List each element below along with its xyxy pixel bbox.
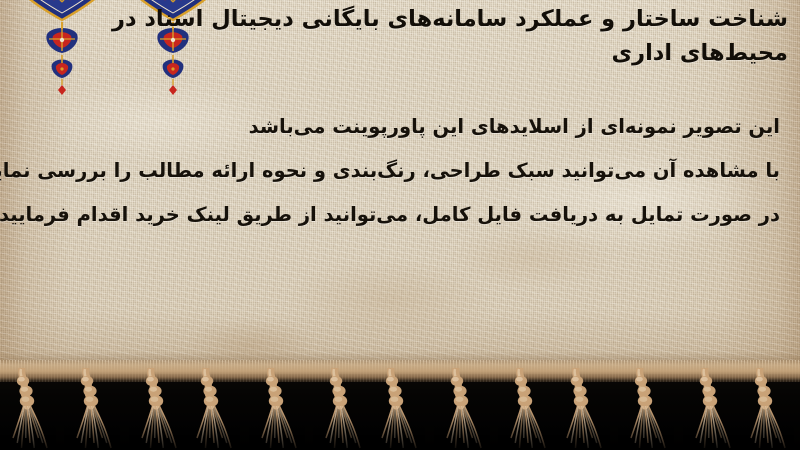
slide-title: شناخت ساختار و عملکرد سامانه‌های بایگانی… — [98, 2, 788, 70]
slide-body-line-1: این تصویر نمونه‌ای از اسلایدهای این پاور… — [20, 105, 780, 149]
slide-body-line-2: با مشاهده آن می‌توانید سبک طراحی، رنگ‌بن… — [20, 149, 780, 193]
slide-text-block: شناخت ساختار و عملکرد سامانه‌های بایگانی… — [0, 0, 800, 376]
fringe-tassel — [184, 368, 240, 450]
slide-title-line-2: محیط‌های اداری — [612, 40, 788, 66]
slide-title-line-1: شناخت ساختار و عملکرد سامانه‌های بایگانی… — [112, 6, 788, 32]
carpet-fringe — [0, 360, 800, 450]
fringe-tassel — [683, 368, 739, 450]
slide-canvas: شناخت ساختار و عملکرد سامانه‌های بایگانی… — [0, 0, 800, 450]
fringe-tassel — [0, 368, 56, 450]
fringe-tassel — [554, 368, 610, 450]
fringe-tassel — [369, 368, 425, 450]
fringe-tassel — [738, 368, 794, 450]
fringe-tassel — [64, 368, 120, 450]
fringe-tassel — [498, 368, 554, 450]
slide-body: این تصویر نمونه‌ای از اسلایدهای این پاور… — [20, 105, 780, 237]
fringe-tassel — [313, 368, 369, 450]
fringe-tassel — [249, 368, 305, 450]
fringe-tassel — [434, 368, 490, 450]
fringe-tassel — [618, 368, 674, 450]
fringe-tassel — [129, 368, 185, 450]
slide-body-line-3: در صورت تمایل به دریافت فایل کامل، می‌تو… — [20, 193, 780, 237]
